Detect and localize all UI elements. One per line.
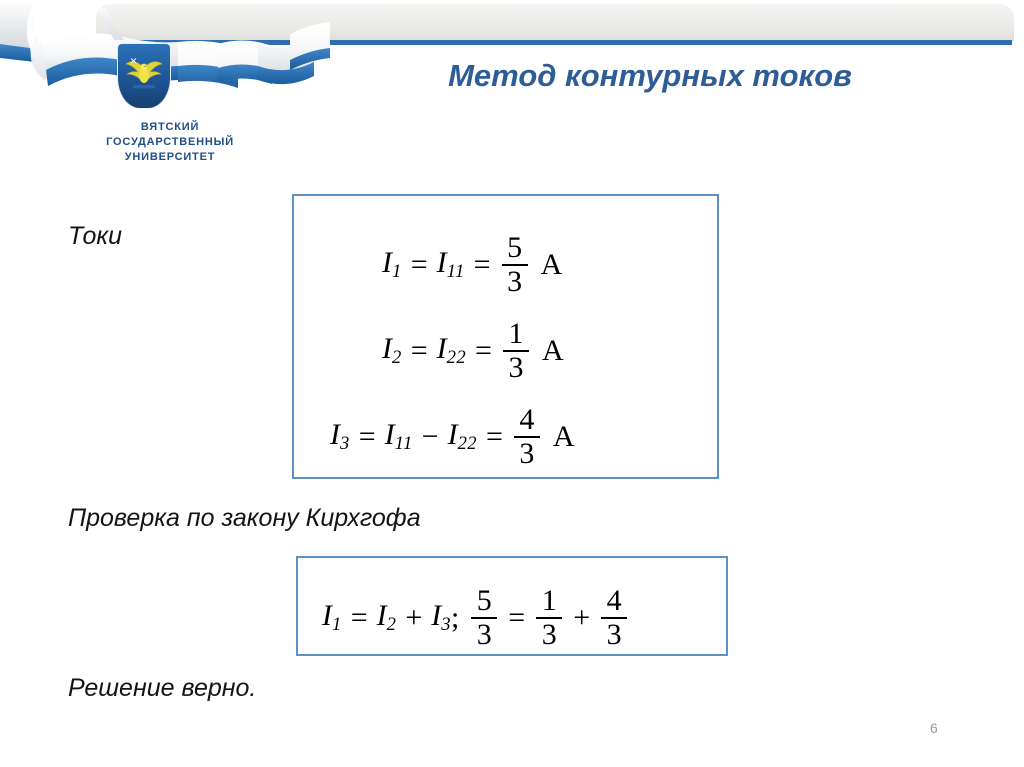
slide-canvas: ВЯТСКИЙ ГОСУДАРСТВЕННЫЙ УНИВЕРСИТЕТ Мето…	[0, 0, 1024, 767]
eq1-equals-1: =	[402, 248, 437, 282]
eq4-equals-2: =	[499, 601, 534, 635]
eq4-lhs-sub: 1	[332, 615, 342, 636]
university-name-line3: УНИВЕРСИТЕТ	[60, 150, 280, 165]
eq2-lhs: I	[382, 332, 392, 365]
eq3-numerator: 4	[515, 404, 538, 436]
eq1-lhs-sub: 1	[392, 262, 402, 283]
equation-current-2: I2 = I22 = 1 3 A	[382, 318, 564, 384]
label-conclusion: Решение верно.	[68, 674, 256, 703]
header-plate	[96, 4, 1014, 41]
eq1-unit: A	[530, 248, 563, 282]
slide-number: 6	[930, 720, 938, 736]
eq4-left-numerator: 5	[473, 585, 496, 617]
eq4-fraction-right: 4 3	[601, 585, 627, 651]
eq4-term-b-sub: 3	[441, 615, 451, 636]
eq4-lhs: I	[322, 599, 332, 632]
label-kirchhoff-check: Проверка по закону Кирхгофа	[68, 504, 421, 533]
eq2-lhs-sub: 2	[392, 348, 402, 369]
eq4-term-b: I	[431, 599, 441, 632]
university-logo: ВЯТСКИЙ ГОСУДАРСТВЕННЫЙ УНИВЕРСИТЕТ	[60, 42, 280, 182]
eq4-fraction-mid: 1 3	[536, 585, 562, 651]
equation-current-1: I1 = I11 = 5 3 A	[382, 232, 562, 298]
eq1-numerator: 5	[503, 232, 526, 264]
eq4-term-a: I	[377, 599, 387, 632]
eq3-equals-1: =	[350, 420, 385, 454]
eq4-right-denominator: 3	[603, 619, 626, 651]
eq1-mid: I	[437, 246, 447, 279]
eq1-lhs: I	[382, 246, 392, 279]
eq4-fraction-left: 5 3	[471, 585, 497, 651]
eq3-term-b-sub: 22	[458, 434, 477, 455]
eq3-equals-2: =	[477, 420, 512, 454]
eq4-left-denominator: 3	[473, 619, 496, 651]
eq2-denominator: 3	[504, 352, 527, 384]
eq3-minus: −	[413, 420, 448, 454]
eq2-unit: A	[531, 334, 564, 368]
eq3-lhs-sub: 3	[340, 434, 350, 455]
university-name-line1: ВЯТСКИЙ	[60, 120, 280, 135]
eq3-term-a: I	[385, 418, 395, 451]
eq2-equals-2: =	[466, 334, 501, 368]
eq4-equals-1: =	[342, 601, 377, 635]
eq4-mid-numerator: 1	[538, 585, 561, 617]
page-title: Метод контурных токов	[300, 58, 1000, 94]
eq3-lhs: I	[330, 418, 340, 451]
eq2-numerator: 1	[504, 318, 527, 350]
eq3-denominator: 3	[515, 438, 538, 470]
eq4-semicolon: ;	[451, 601, 469, 635]
eq4-plus-1: +	[396, 601, 431, 635]
vyatka-bird-icon	[124, 56, 164, 90]
eq3-unit: A	[542, 420, 575, 454]
eq3-term-b: I	[448, 418, 458, 451]
shield-icon	[118, 44, 170, 108]
equation-kirchhoff-check: I1 = I2 + I3 ; 5 3 = 1 3 + 4 3	[322, 585, 629, 651]
eq1-mid-sub: 11	[447, 262, 465, 283]
eq4-term-a-sub: 2	[387, 615, 397, 636]
university-name-line2: ГОСУДАРСТВЕННЫЙ	[60, 135, 280, 150]
eq1-equals-2: =	[465, 248, 500, 282]
eq2-mid-sub: 22	[447, 348, 466, 369]
university-name: ВЯТСКИЙ ГОСУДАРСТВЕННЫЙ УНИВЕРСИТЕТ	[60, 120, 280, 165]
eq1-fraction: 5 3	[502, 232, 528, 298]
eq2-mid: I	[437, 332, 447, 365]
eq4-mid-denominator: 3	[538, 619, 561, 651]
eq4-right-numerator: 4	[603, 585, 626, 617]
eq2-equals-1: =	[402, 334, 437, 368]
eq4-plus-2: +	[564, 601, 599, 635]
eq3-term-a-sub: 11	[395, 434, 413, 455]
eq1-denominator: 3	[503, 266, 526, 298]
eq3-fraction: 4 3	[514, 404, 540, 470]
eq2-fraction: 1 3	[503, 318, 529, 384]
label-currents: Токи	[68, 222, 122, 251]
equation-current-3: I3 = I11 − I22 = 4 3 A	[330, 404, 575, 470]
